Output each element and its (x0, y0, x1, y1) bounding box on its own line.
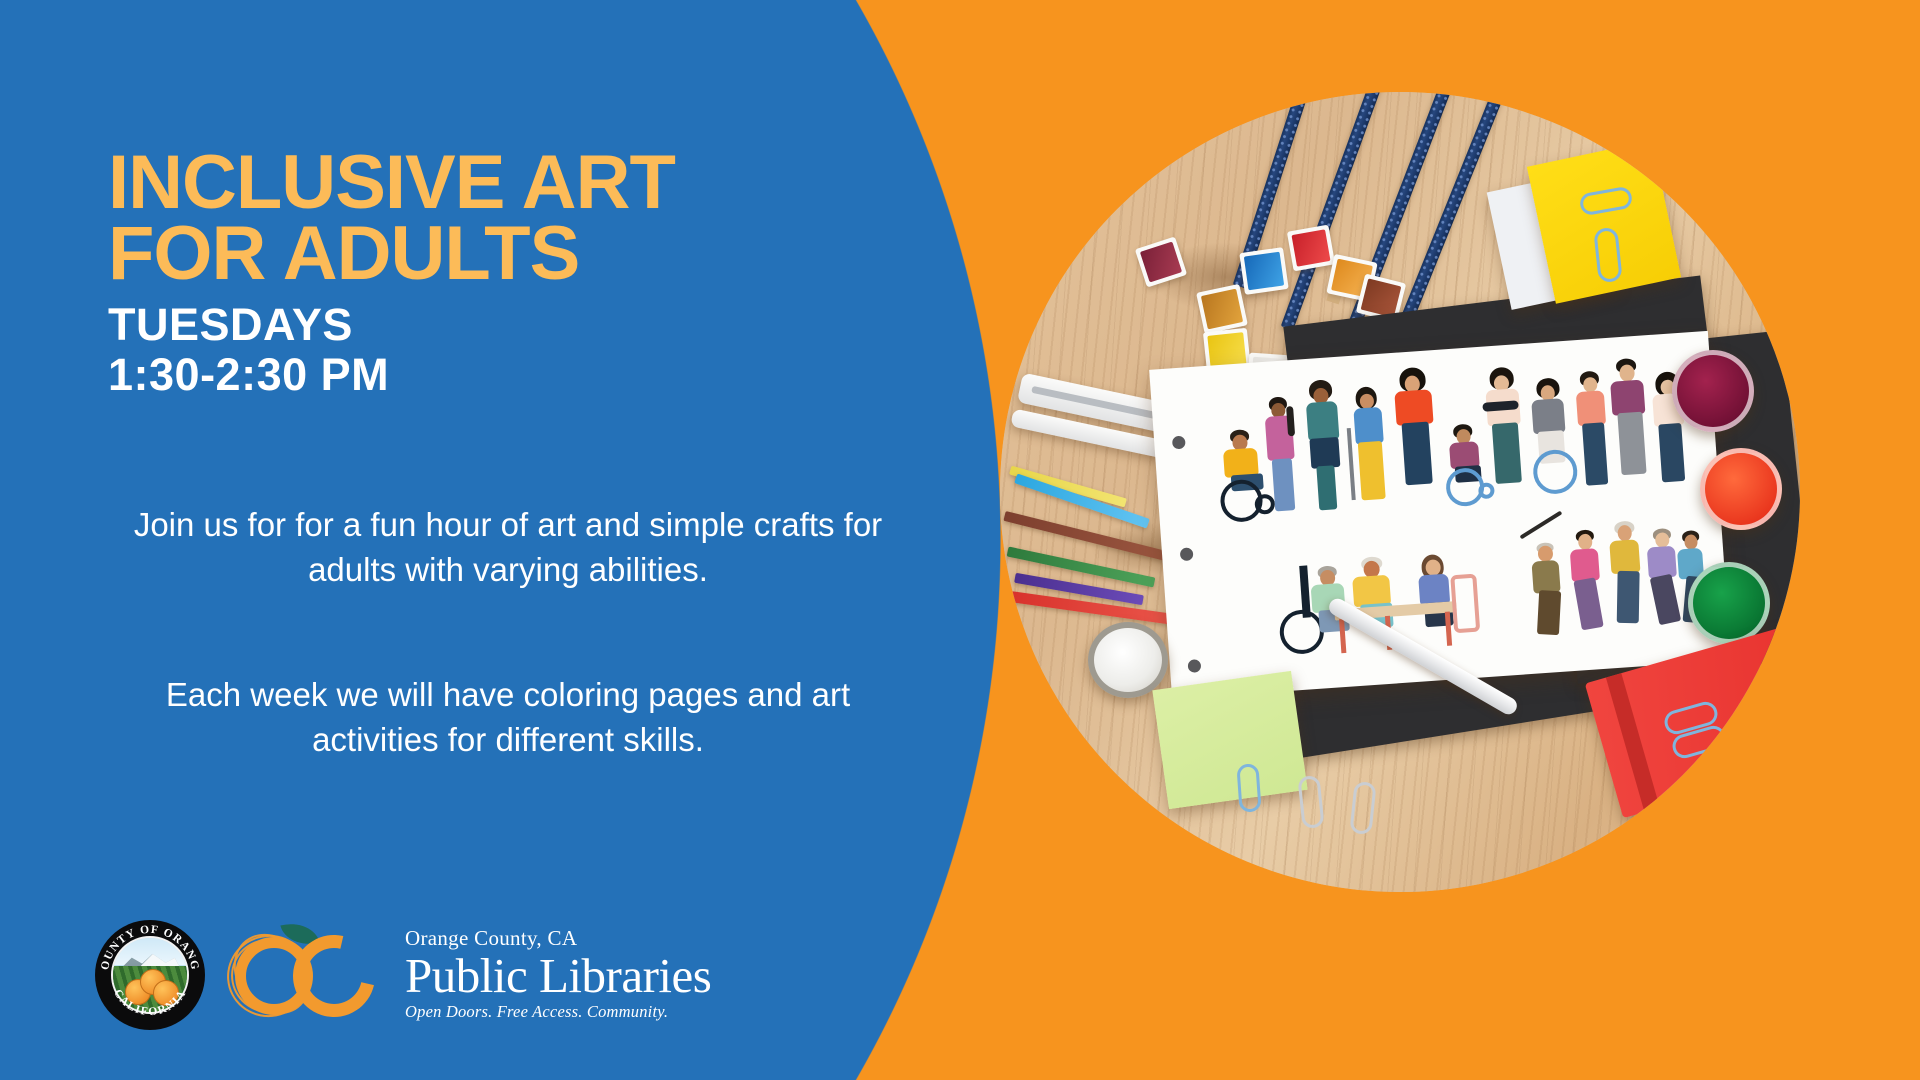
library-tagline: Open Doors. Free Access. Community. (405, 1002, 711, 1022)
seal-top-text: COUNTY OF ORANGE (95, 920, 201, 972)
diverse-group-illustration (1208, 346, 1697, 529)
library-name: Public Libraries (405, 951, 711, 1001)
seal-bottom-text: CALIFORNIA (111, 987, 189, 1018)
text-column: INCLUSIVE ART FOR ADULTS TUESDAYS 1:30-2… (0, 0, 1000, 1080)
schedule-time: 1:30-2:30 PM (108, 350, 888, 400)
magenta-paint-jar (1672, 350, 1754, 432)
orange-paint-jar (1700, 448, 1782, 530)
schedule-day: TUESDAYS (108, 300, 888, 350)
oc-orange-mark (227, 921, 377, 1029)
seniors-table-illustration (1272, 538, 1500, 673)
county-of-orange-seal: COUNTY OF ORANGE CALIFORNIA (95, 920, 205, 1030)
watercolor-pan (1287, 225, 1335, 272)
logo-lockup: COUNTY OF ORANGE CALIFORNIA Orange Count… (95, 920, 711, 1030)
library-eyebrow: Orange County, CA (405, 928, 711, 949)
watercolor-pan (1239, 247, 1288, 295)
schedule-block: TUESDAYS 1:30-2:30 PM (108, 300, 888, 401)
figure-prosthetic-arm (1480, 366, 1531, 503)
figure-with-crutch (1347, 386, 1394, 512)
glue-jar (1088, 622, 1168, 698)
poster-canvas: INCLUSIVE ART FOR ADULTS TUESDAYS 1:30-2… (0, 0, 1920, 1080)
figure-standing (1259, 396, 1303, 518)
page-title: INCLUSIVE ART FOR ADULTS (108, 147, 888, 290)
svg-text:CALIFORNIA: CALIFORNIA (111, 987, 189, 1018)
body-paragraph-2: Each week we will have coloring pages an… (108, 673, 908, 762)
library-wordmark: Orange County, CA Public Libraries Open … (405, 928, 711, 1022)
figure-standing (1390, 366, 1444, 509)
seal-ring-text: COUNTY OF ORANGE CALIFORNIA (95, 920, 205, 1030)
watercolor-pan (1196, 284, 1248, 334)
figure-standing (1300, 379, 1349, 513)
figure-senior-seated (1305, 564, 1354, 637)
body-paragraph-1: Join us for for a fun hour of art and si… (108, 503, 908, 592)
illustration-sheet (1149, 331, 1731, 699)
svg-text:COUNTY OF ORANGE: COUNTY OF ORANGE (95, 920, 201, 972)
title-line-2: FOR ADULTS (108, 218, 888, 289)
green-sticky-note (1152, 671, 1307, 809)
art-supplies-photo (1000, 92, 1800, 892)
dancing-figures-illustration (1511, 510, 1710, 653)
green-paint-jar (1688, 562, 1770, 644)
blue-paper-clip (1236, 763, 1261, 812)
figure-dancing (1524, 541, 1571, 640)
